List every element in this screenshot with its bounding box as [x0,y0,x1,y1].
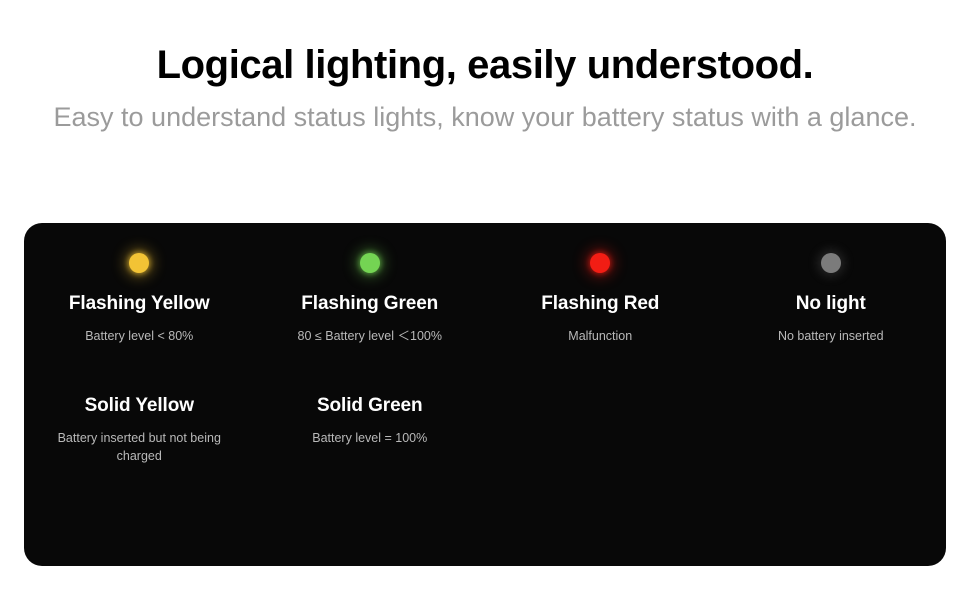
status-description: Battery level = 100% [255,429,486,447]
green-led-icon [360,253,380,273]
status-item-solid-green: Solid Green Battery level = 100% [255,345,486,465]
gray-led-icon [821,253,841,273]
led-wrap [255,247,486,279]
status-title: No light [716,293,947,316]
status-description: No battery inserted [716,327,947,345]
led-wrap [24,247,255,279]
status-title: Solid Yellow [24,395,255,418]
page-subtitle: Easy to understand status lights, know y… [0,100,970,136]
status-item-solid-yellow: Solid Yellow Battery inserted but not be… [24,345,255,465]
status-description: 80 ≤ Battery level ＜100% [255,327,486,345]
status-item-flashing-yellow: Flashing Yellow Battery level < 80% [24,223,255,345]
yellow-led-icon [129,253,149,273]
red-led-icon [590,253,610,273]
status-legend-grid: Flashing Yellow Battery level < 80% Flas… [24,223,946,465]
status-light-panel: Flashing Yellow Battery level < 80% Flas… [24,223,946,566]
status-title: Flashing Red [485,293,716,316]
product-feature-page: Logical lighting, easily understood. Eas… [0,0,970,600]
hero-header: Logical lighting, easily understood. Eas… [0,0,970,136]
status-description: Malfunction [485,327,716,345]
status-item-no-light: No light No battery inserted [716,223,947,345]
page-title: Logical lighting, easily understood. [0,44,970,86]
status-title: Solid Green [255,395,486,418]
led-wrap [485,247,716,279]
status-item-empty-1 [485,345,716,465]
led-wrap [716,247,947,279]
status-item-empty-2 [716,345,947,465]
status-title: Flashing Yellow [24,293,255,316]
status-title: Flashing Green [255,293,486,316]
status-description: Battery inserted but not being charged [24,429,255,465]
status-item-flashing-green: Flashing Green 80 ≤ Battery level ＜100% [255,223,486,345]
status-item-flashing-red: Flashing Red Malfunction [485,223,716,345]
status-description: Battery level < 80% [24,327,255,345]
